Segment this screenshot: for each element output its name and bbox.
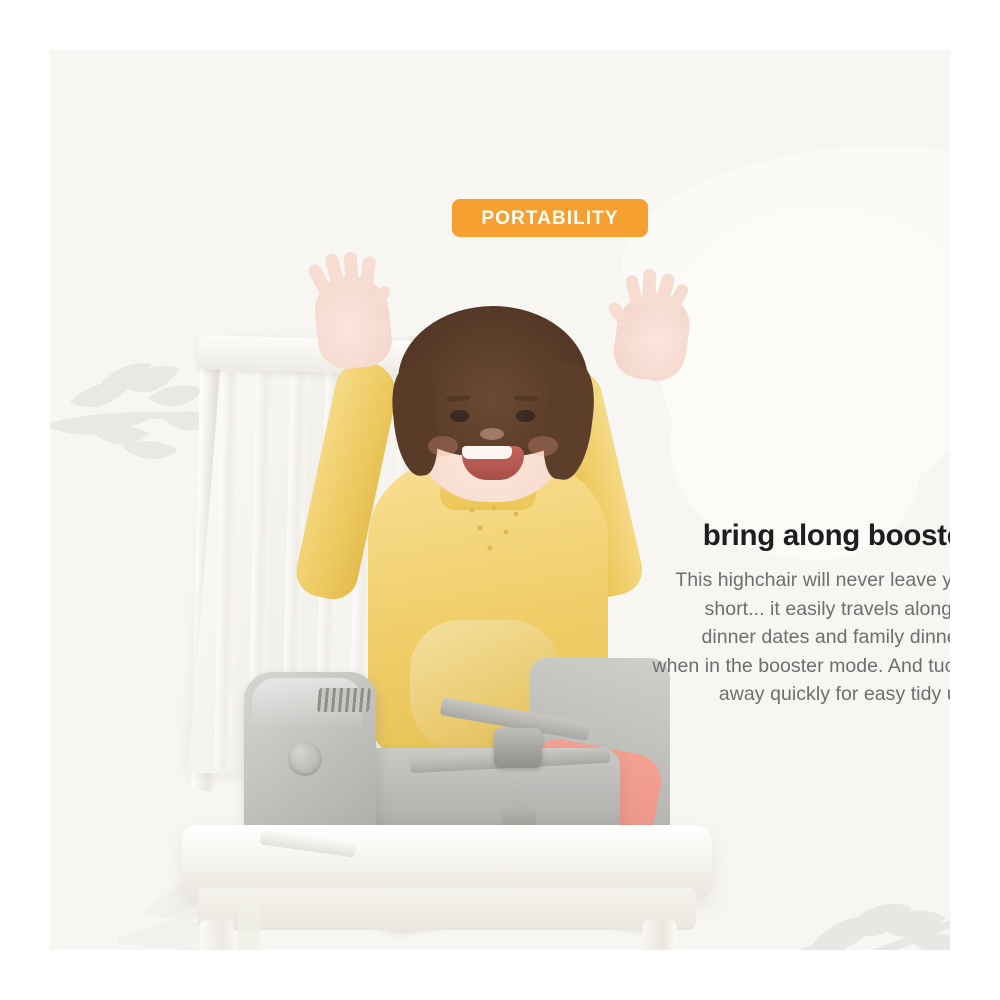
- toddler-hand-left: [311, 272, 394, 371]
- feature-headline: bring along booster: [650, 520, 950, 552]
- chair-leg-front-left: [199, 920, 238, 950]
- leaf-sprig-bottom-right-icon: [750, 890, 950, 950]
- toddler-nose: [480, 428, 504, 440]
- toddler-eye-left: [450, 410, 469, 422]
- chair-leg-front-right: [637, 920, 676, 950]
- product-feature-slide: PORTABILITY: [0, 0, 1000, 1000]
- feature-copy-block: bring along booster This highchair will …: [650, 520, 950, 709]
- toddler-eye-right: [516, 410, 535, 422]
- chair-leg-back-left: [238, 900, 260, 950]
- booster-seat-vent: [317, 688, 371, 712]
- slide-canvas: PORTABILITY: [50, 50, 950, 950]
- toddler-cheek-right: [528, 436, 558, 456]
- feature-description: This highchair will never leave you shor…: [650, 566, 950, 708]
- harness-buckle: [494, 728, 542, 768]
- toddler-collar-eyelet-detail: [462, 502, 534, 560]
- booster-seat-adjust-knob: [288, 742, 322, 776]
- product-photo: [110, 240, 730, 950]
- portability-badge: PORTABILITY: [452, 199, 648, 237]
- chair-apron: [198, 888, 696, 930]
- toddler-cheek-left: [428, 436, 458, 456]
- toddler-hand-right: [610, 287, 694, 384]
- badge-label: PORTABILITY: [481, 209, 618, 228]
- toddler-teeth: [462, 446, 512, 459]
